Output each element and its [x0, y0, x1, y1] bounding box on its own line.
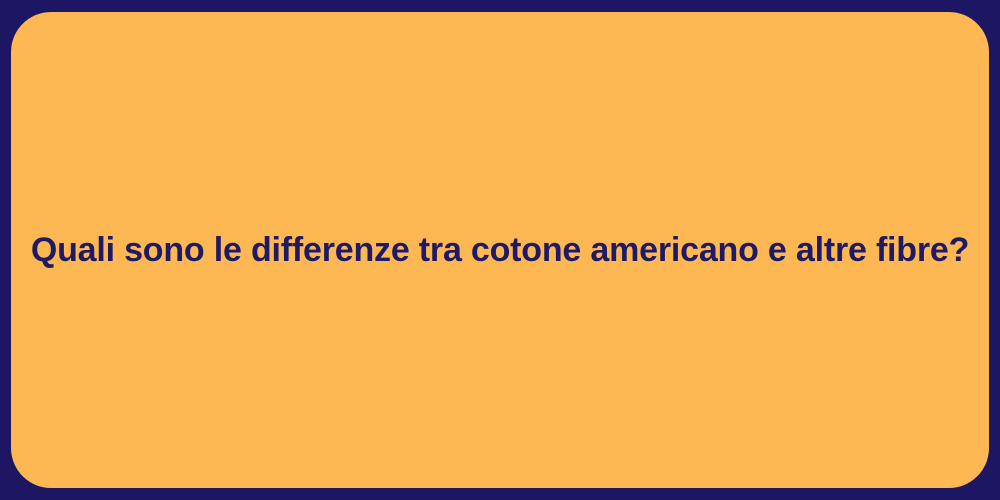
question-card: Quali sono le differenze tra cotone amer…: [11, 12, 989, 488]
headline-container: Quali sono le differenze tra cotone amer…: [11, 229, 989, 272]
outer-frame: Quali sono le differenze tra cotone amer…: [0, 0, 1000, 500]
page-title: Quali sono le differenze tra cotone amer…: [31, 229, 969, 272]
